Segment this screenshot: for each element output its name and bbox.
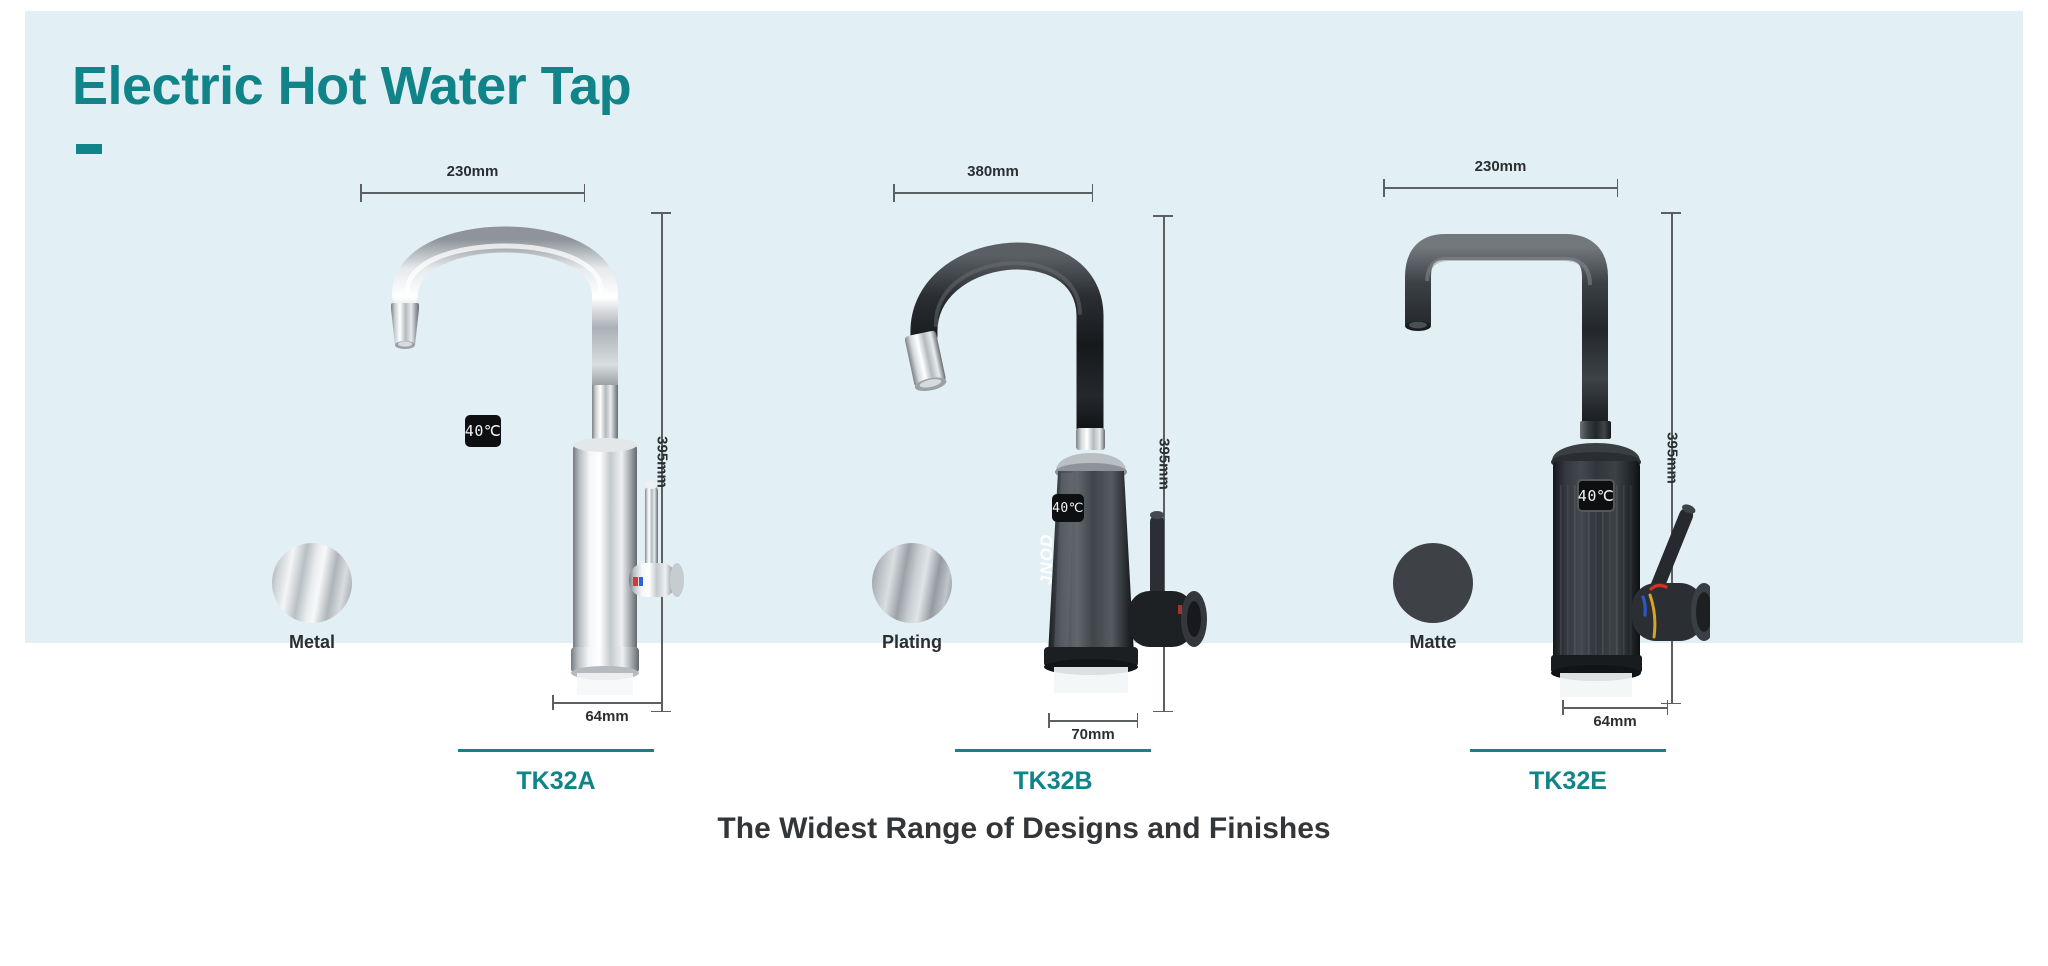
footer-tagline: The Widest Range of Designs and Finishes bbox=[0, 812, 2048, 846]
temperature-display-tk32a: 40℃ bbox=[465, 415, 501, 447]
model-name-tk32e: TK32E bbox=[1470, 767, 1666, 796]
model-underline-tk32e bbox=[1470, 749, 1666, 752]
model-name-tk32a: TK32A bbox=[458, 767, 654, 796]
infographic-canvas: Electric Hot Water Tap 230mm 395mm bbox=[0, 0, 2048, 966]
temperature-display-tk32e: 40℃ bbox=[1577, 479, 1615, 512]
dimension-line bbox=[1562, 707, 1668, 709]
model-underline-tk32a bbox=[458, 749, 654, 752]
finish-label: Matte bbox=[1393, 632, 1473, 653]
swatch-circle-plating bbox=[872, 543, 952, 623]
width-dimension-label: 230mm bbox=[1383, 158, 1618, 175]
swatch-circle-matte bbox=[1393, 543, 1473, 623]
title-dash-accent bbox=[76, 144, 102, 154]
finish-swatch-tk32a[interactable]: Metal bbox=[272, 543, 352, 653]
swatch-circle-metal bbox=[272, 543, 352, 623]
finish-swatch-tk32b[interactable]: Plating bbox=[872, 543, 952, 653]
base-dimension-label: 64mm bbox=[1562, 713, 1668, 730]
product-card-tk32e: 230mm 395mm bbox=[1000, 0, 1520, 840]
finish-label: Plating bbox=[872, 632, 952, 653]
width-dimension-label: 230mm bbox=[360, 163, 585, 180]
finish-label: Metal bbox=[272, 632, 352, 653]
faucet-illustration-tk32a bbox=[345, 185, 685, 705]
finish-swatch-tk32e[interactable]: Matte bbox=[1393, 543, 1473, 653]
